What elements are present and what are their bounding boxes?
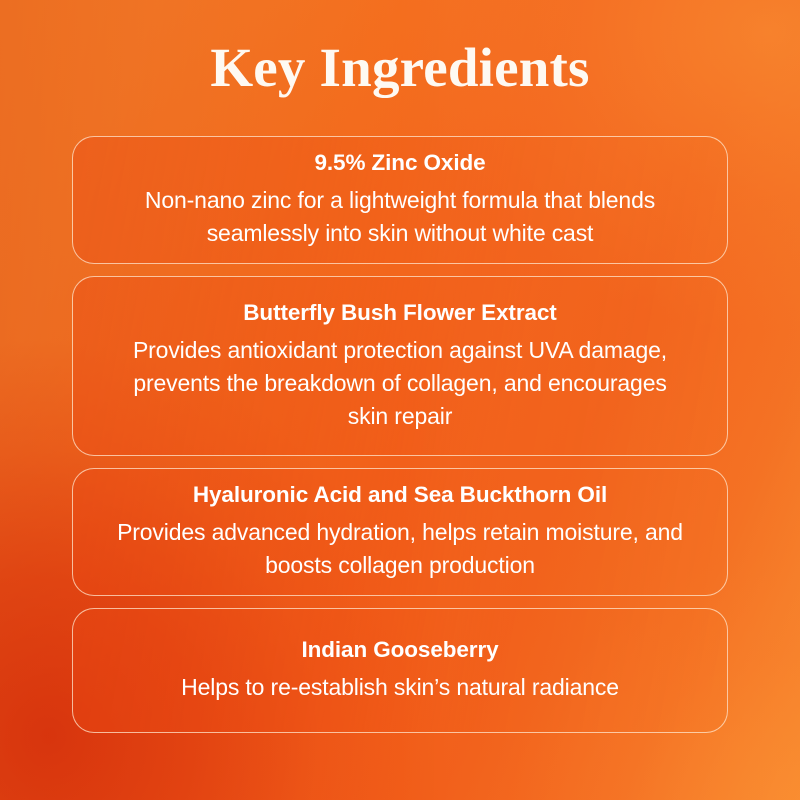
ingredient-description: Non-nano zinc for a lightweight formula … (115, 184, 685, 250)
ingredient-title: 9.5% Zinc Oxide (314, 148, 485, 178)
content-layer: Key Ingredients 9.5% Zinc Oxide Non-nano… (0, 0, 800, 800)
ingredient-description: Helps to re-establish skin’s natural rad… (181, 671, 619, 704)
page-title: Key Ingredients (0, 36, 800, 100)
ingredient-card-indian-gooseberry: Indian Gooseberry Helps to re-establish … (72, 608, 728, 733)
ingredient-card-zinc-oxide: 9.5% Zinc Oxide Non-nano zinc for a ligh… (72, 136, 728, 264)
ingredient-title: Hyaluronic Acid and Sea Buckthorn Oil (193, 480, 607, 510)
ingredient-card-butterfly-bush-flower-extract: Butterfly Bush Flower Extract Provides a… (72, 276, 728, 456)
key-ingredients-graphic: Key Ingredients 9.5% Zinc Oxide Non-nano… (0, 0, 800, 800)
ingredient-card-hyaluronic-acid-sea-buckthorn-oil: Hyaluronic Acid and Sea Buckthorn Oil Pr… (72, 468, 728, 596)
ingredient-title: Indian Gooseberry (301, 635, 498, 665)
ingredient-description: Provides advanced hydration, helps retai… (115, 516, 685, 582)
ingredient-card-list: 9.5% Zinc Oxide Non-nano zinc for a ligh… (72, 136, 728, 733)
ingredient-description: Provides antioxidant protection against … (115, 334, 685, 433)
ingredient-title: Butterfly Bush Flower Extract (243, 298, 556, 328)
